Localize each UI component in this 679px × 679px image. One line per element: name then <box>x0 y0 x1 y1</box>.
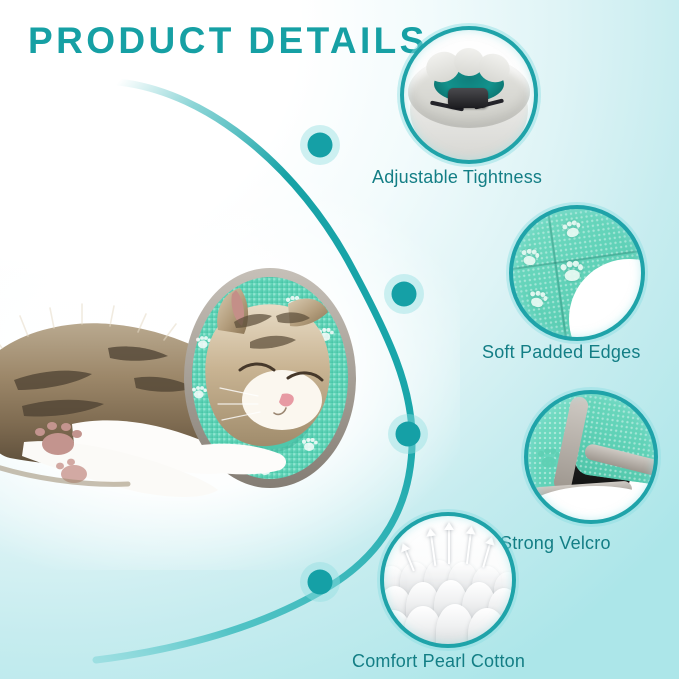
feature-image-comfort-pearl-cotton[interactable] <box>382 514 514 646</box>
paw-print-icon <box>520 248 540 266</box>
product-details-infographic: PRODUCT DETAILS <box>0 0 679 679</box>
feature-image-adjustable-tightness[interactable] <box>402 28 536 162</box>
feature-label-comfort-pearl-cotton: Comfort Pearl Cotton <box>352 651 525 672</box>
cord-lock-toggle-icon <box>448 88 488 108</box>
feature-image-strong-velcro[interactable] <box>526 392 656 522</box>
breathability-arrow-icon <box>448 526 450 564</box>
hero-kitten-image <box>0 228 408 528</box>
feature-label-soft-padded-edges: Soft Padded Edges <box>482 342 641 363</box>
feature-label-adjustable-tightness: Adjustable Tightness <box>372 167 542 188</box>
feature-label-strong-velcro: Strong Velcro <box>500 533 611 554</box>
paw-print-icon <box>560 260 584 282</box>
feature-image-soft-padded-edges[interactable] <box>511 207 643 339</box>
kitten-head-group <box>205 288 330 446</box>
